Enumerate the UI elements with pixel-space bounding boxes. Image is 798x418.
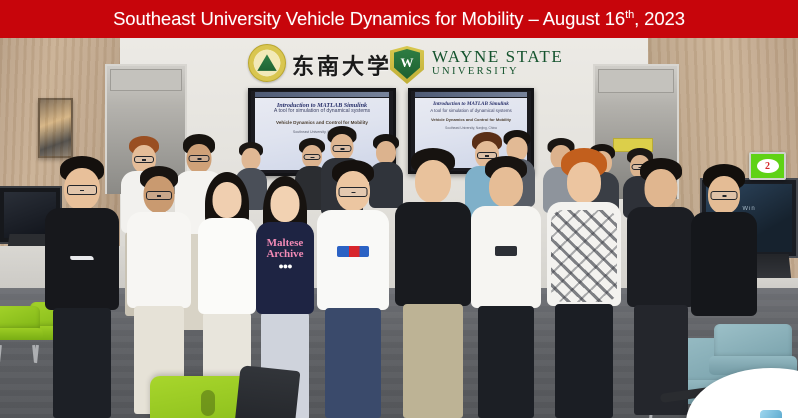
banner-title: Southeast University Vehicle Dynamics fo… xyxy=(113,8,685,30)
southeast-university-emblem-icon xyxy=(248,44,286,82)
group-photograph: 东南大学 W WAYNE STATE UNIVERSITY Introducti… xyxy=(0,38,798,418)
banner-title-ordinal: th xyxy=(625,9,634,21)
right-slide-subtitle: A tool for simulation of dynamical syste… xyxy=(418,108,524,113)
maltese-archive-graphic: Maltese Archive ●●● xyxy=(260,238,310,271)
person xyxy=(318,160,388,418)
tee-chest-print xyxy=(495,246,517,256)
person xyxy=(46,156,118,418)
patterned-shirt-print xyxy=(551,210,617,302)
table-object xyxy=(760,410,782,418)
person xyxy=(472,156,540,418)
maltese-line2: Archive xyxy=(260,249,310,260)
maltese-dogs-graphic: ●●● xyxy=(260,262,310,271)
station-number: 2 xyxy=(757,159,779,173)
wayne-state-shield-icon: W xyxy=(390,46,424,84)
wayne-state-line2: UNIVERSITY xyxy=(432,65,563,78)
li-ning-tee-logo xyxy=(337,246,369,257)
right-slide-line3: Vehicle Dynamics and Control for Mobilit… xyxy=(418,118,524,123)
southeast-university-chinese-name: 东南大学 xyxy=(292,49,392,81)
foreground-dark-chair xyxy=(232,365,301,418)
person-instructor xyxy=(396,148,470,418)
banner-title-tail: , 2023 xyxy=(634,8,685,29)
person xyxy=(628,158,694,418)
person xyxy=(692,164,756,364)
banner-title-main: Southeast University Vehicle Dynamics fo… xyxy=(113,8,625,29)
right-door-transom xyxy=(598,69,674,93)
title-banner: Southeast University Vehicle Dynamics fo… xyxy=(0,0,798,38)
left-slide-subtitle: A tool for simulation of dynamical syste… xyxy=(258,109,386,115)
left-slide-line3: Vehicle Dynamics and Control for Mobilit… xyxy=(258,120,386,126)
wall-artwork xyxy=(38,98,73,158)
wayne-state-line1: WAYNE STATE xyxy=(432,48,563,65)
chair xyxy=(0,306,40,348)
wayne-state-shield-letter: W xyxy=(390,55,424,71)
left-door-transom xyxy=(110,69,182,91)
screenshot-root: Southeast University Vehicle Dynamics fo… xyxy=(0,0,798,418)
wayne-state-wordmark: WAYNE STATE UNIVERSITY xyxy=(432,48,563,78)
person xyxy=(548,148,620,418)
